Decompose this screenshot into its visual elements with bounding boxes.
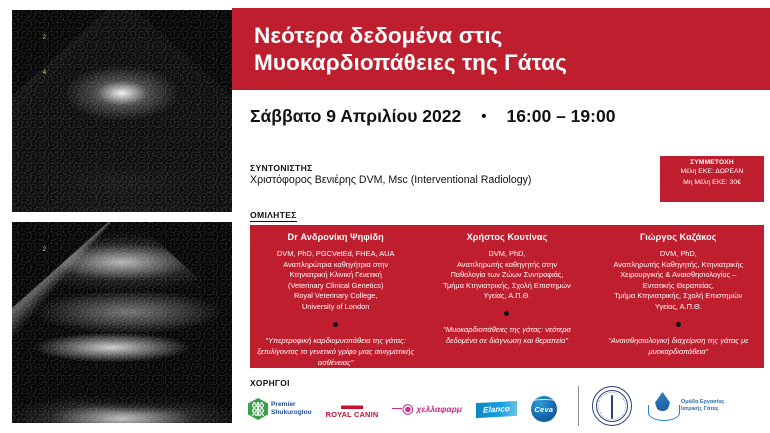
speaker-talk-title: "Μυοκαρδιοπάθειες της γάτας: νεότερα δεδ… bbox=[428, 324, 585, 346]
elanco-text: Elanco bbox=[483, 404, 510, 414]
feline-group-text: Ομάδα Εργασίας Ιατρικής Γάτας bbox=[681, 399, 724, 413]
title-line-1: Νεότερα δεδομένα στις bbox=[254, 22, 567, 49]
speaker-talk-title: "Αναισθησιολογική διαχείριση της γάτας μ… bbox=[600, 335, 757, 357]
premier-line-1: Premier bbox=[271, 401, 312, 409]
veterinary-association-seal-icon bbox=[592, 386, 632, 426]
moderator-label: ΣΥΝΤΟΝΙΣΤΗΣ bbox=[250, 163, 531, 173]
image-column: 2 4 2 bbox=[0, 0, 232, 433]
ultrasound-depth-marks-top: 2 4 bbox=[43, 34, 46, 78]
premier-line-2: Shukuroglou bbox=[271, 409, 312, 417]
title-line-2: Μυοκαρδιοπάθειες της Γάτας bbox=[254, 49, 567, 76]
crown-icon bbox=[341, 400, 363, 409]
speakers-box: Dr Ανδρονίκη Ψηφίδη DVM, PhD, PGCVetEd, … bbox=[250, 225, 764, 368]
leaf-hexagon-icon bbox=[248, 398, 268, 420]
organiser-divider bbox=[578, 386, 579, 426]
water-drop-cat-icon bbox=[648, 391, 678, 421]
sponsor-logo-ceva: Ceva bbox=[531, 396, 557, 422]
feline-group-line-1: Ομάδα Εργασίας bbox=[681, 399, 724, 406]
speaker-talk-title: "Υπερτροφική καρδιομυοπάθεια της γάτας: … bbox=[257, 335, 414, 368]
ultrasound-image-top: 2 4 bbox=[12, 10, 232, 212]
seal-ring-text-icon bbox=[598, 392, 626, 420]
target-ring-icon bbox=[392, 403, 414, 416]
speaker-credentials: DVM, PhD, PGCVetEd, FHEA, AUAΑναπληρώτρι… bbox=[277, 249, 394, 313]
participation-members-fee: Μέλη ΕΚΕ: ΔΩΡΕΑΝ bbox=[660, 166, 764, 177]
sponsor-logo-royal-canin: ROYAL CANIN bbox=[326, 400, 379, 419]
premier-shukuroglou-text: Premier Shukuroglou bbox=[271, 401, 312, 417]
title-banner: Νεότερα δεδομένα στις Μυοκαρδιοπάθειες τ… bbox=[232, 8, 770, 90]
sponsors-label: ΧΟΡΗΓΟΙ bbox=[250, 378, 290, 388]
organiser-logos: Ομάδα Εργασίας Ιατρικής Γάτας bbox=[592, 384, 764, 428]
royal-canin-text: ROYAL CANIN bbox=[326, 410, 379, 419]
feline-group-line-2: Ιατρικής Γάτας bbox=[681, 406, 724, 413]
echocardiogram-bottom: 2 bbox=[12, 222, 232, 423]
bullet-dot-icon bbox=[504, 311, 509, 316]
speaker-card: Dr Ανδρονίκη Ψηφίδη DVM, PhD, PGCVetEd, … bbox=[250, 225, 421, 368]
event-time: 16:00 – 19:00 bbox=[506, 106, 615, 127]
depth-mark: 2 bbox=[43, 34, 46, 43]
speaker-name: Dr Ανδρονίκη Ψηφίδη bbox=[288, 232, 384, 242]
ultrasound-depth-marks-bottom: 2 bbox=[43, 246, 46, 255]
speaker-name: Χρήστος Κουτίνας bbox=[467, 232, 548, 242]
event-datetime: Σάββατο 9 Απριλίου 2022 • 16:00 – 19:00 bbox=[250, 106, 615, 127]
ceva-text: Ceva bbox=[534, 405, 553, 414]
sponsor-logos: Premier Shukuroglou ROYAL CANIN χελλαφαρ… bbox=[248, 392, 558, 426]
depth-mark: 2 bbox=[43, 246, 46, 255]
bullet-dot-icon bbox=[676, 322, 681, 327]
organiser-logo-feline-medicine-group: Ομάδα Εργασίας Ιατρικής Γάτας bbox=[648, 391, 724, 421]
moderator-block: ΣΥΝΤΟΝΙΣΤΗΣ Χριστόφορος Βενιέρης DVM, Ms… bbox=[250, 163, 531, 188]
participation-heading: ΣΥΜΜΕΤΟΧΗ bbox=[660, 159, 764, 166]
speakers-label: ΟΜΙΛΗΤΕΣ bbox=[250, 210, 297, 222]
bullet-dot-icon bbox=[333, 322, 338, 327]
speaker-credentials: DVM, PhD,Αναπληρωτής καθηγητής στηνΠαθολ… bbox=[443, 249, 571, 302]
webinar-poster: 2 4 2 Νεότερα δεδομένα στις Μυοκαρδιοπάθ… bbox=[0, 0, 770, 433]
echocardiogram-top: 2 4 bbox=[12, 10, 232, 212]
event-date: Σάββατο 9 Απριλίου 2022 bbox=[250, 106, 461, 127]
participation-nonmembers-fee: Μη Μέλη ΕΚΕ: 30€ bbox=[660, 177, 764, 188]
sponsor-logo-premier-shukuroglou: Premier Shukuroglou bbox=[248, 398, 312, 420]
depth-mark: 4 bbox=[43, 69, 46, 78]
ultrasound-image-bottom: 2 bbox=[12, 222, 232, 423]
speaker-card: Γιώργος Καζάκος DVM, PhD,Αναπληρωτής Καθ… bbox=[593, 225, 764, 368]
speaker-card: Χρήστος Κουτίνας DVM, PhD,Αναπληρωτής κα… bbox=[421, 225, 592, 368]
bullet-separator-icon: • bbox=[481, 109, 486, 124]
speaker-name: Γιώργος Καζάκος bbox=[640, 232, 717, 242]
participation-box: ΣΥΜΜΕΤΟΧΗ Μέλη ΕΚΕ: ΔΩΡΕΑΝ Μη Μέλη ΕΚΕ: … bbox=[660, 156, 764, 202]
sponsor-logo-elanco: Elanco bbox=[476, 400, 517, 417]
sponsor-logo-hellafarm: χελλαφαρμ bbox=[392, 403, 462, 416]
moderator-name: Χριστόφορος Βενιέρης DVM, Msc (Intervent… bbox=[250, 173, 531, 188]
page-title: Νεότερα δεδομένα στις Μυοκαρδιοπάθειες τ… bbox=[254, 22, 567, 77]
hellafarm-text: χελλαφαρμ bbox=[416, 404, 462, 414]
speaker-credentials: DVM, PhD,Αναπληρωτής Καθηγητής, Κτηνιατρ… bbox=[613, 249, 743, 313]
